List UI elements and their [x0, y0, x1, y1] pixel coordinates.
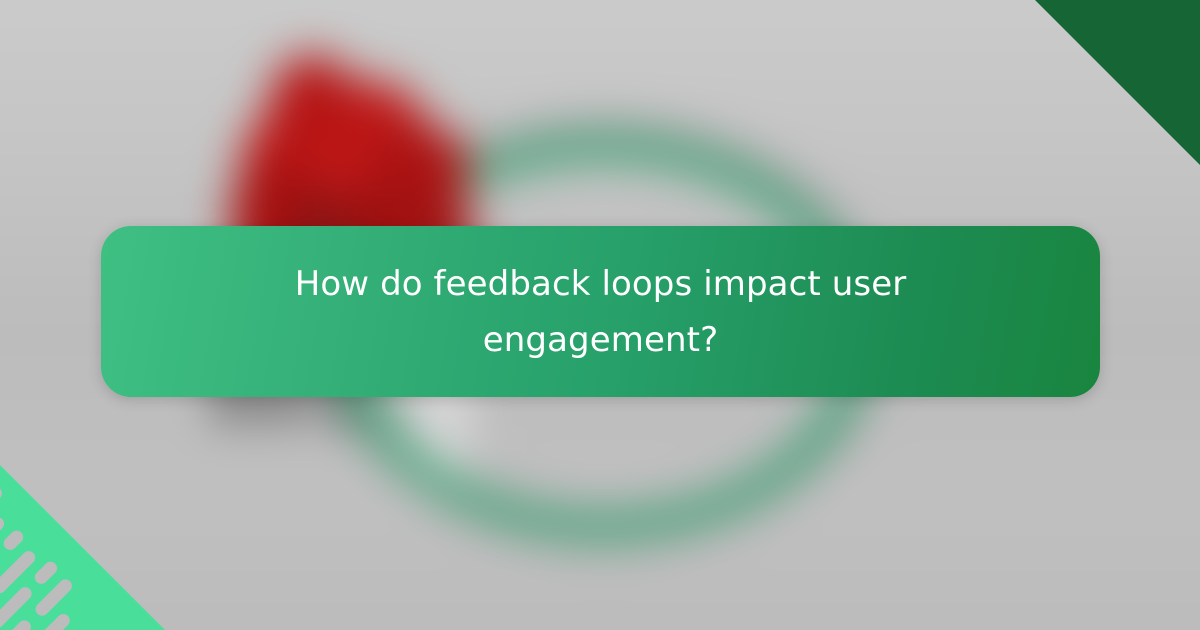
corner-ornament-top-right [990, 0, 1200, 165]
corner-ornament-bottom-left [0, 465, 210, 630]
social-card: How do feedback loops impact user engage… [0, 0, 1200, 630]
banner-title: How do feedback loops impact user engage… [281, 256, 921, 368]
blurred-red-blob [270, 55, 355, 150]
dash-pattern-fill [0, 465, 210, 630]
dash-pattern-fill [990, 0, 1200, 165]
headline-banner: How do feedback loops impact user engage… [101, 226, 1100, 397]
